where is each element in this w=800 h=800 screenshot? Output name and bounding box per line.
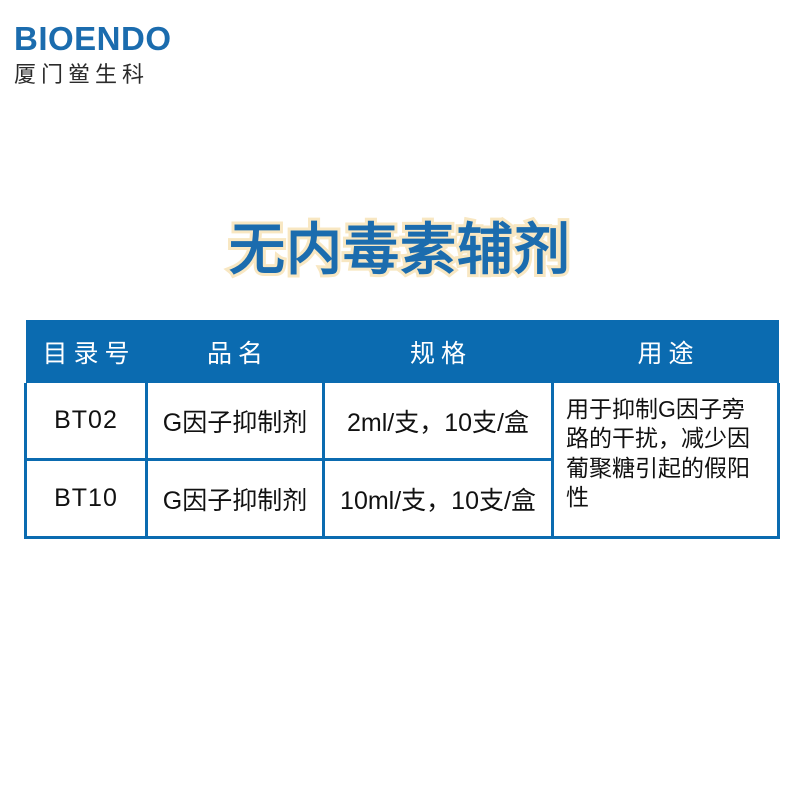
cell-catalog: BT10 <box>26 460 147 538</box>
column-header-catalog: 目录号 <box>26 320 147 383</box>
page-title: 无内毒素辅剂 <box>0 219 800 281</box>
product-spec-table: 目录号 品名 规格 用途 BT02 G因子抑制剂 2ml/支，10支/盒 用于抑… <box>24 320 780 539</box>
cell-usage-merged: 用于抑制G因子旁路的干扰，减少因葡聚糖引起的假阳性 <box>553 383 779 538</box>
cell-name: G因子抑制剂 <box>147 460 324 538</box>
column-header-spec: 规格 <box>324 320 553 383</box>
cell-spec: 2ml/支，10支/盒 <box>324 383 553 460</box>
table-body: BT02 G因子抑制剂 2ml/支，10支/盒 用于抑制G因子旁路的干扰，减少因… <box>26 383 779 538</box>
brand-chinese-name: 厦门鲎生科 <box>14 64 314 86</box>
brand-wordmark: BIOENDO <box>14 22 314 55</box>
brand-logo: BIOENDO 厦门鲎生科 <box>14 22 314 86</box>
column-header-name: 品名 <box>147 320 324 383</box>
column-header-usage: 用途 <box>553 320 779 383</box>
table-row: BT02 G因子抑制剂 2ml/支，10支/盒 用于抑制G因子旁路的干扰，减少因… <box>26 383 779 460</box>
cell-catalog: BT02 <box>26 383 147 460</box>
table-header: 目录号 品名 规格 用途 <box>26 320 779 383</box>
cell-spec: 10ml/支，10支/盒 <box>324 460 553 538</box>
table-header-row: 目录号 品名 规格 用途 <box>26 320 779 383</box>
cell-name: G因子抑制剂 <box>147 383 324 460</box>
